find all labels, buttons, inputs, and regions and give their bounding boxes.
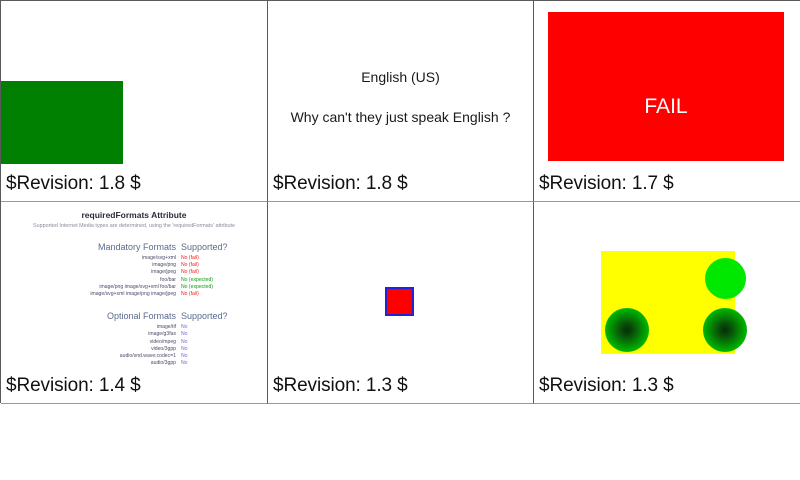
- table-row: image/svg+xml image/png image/jpeg No (f…: [1, 291, 267, 298]
- green-dot-bottom-left: [605, 308, 649, 352]
- format-cell: image/g3fax: [1, 331, 181, 338]
- supported-cell: No (fail): [181, 269, 267, 276]
- green-rectangle-shape: [1, 81, 123, 164]
- required-formats-report: requiredFormats Attribute Supported Inte…: [1, 202, 267, 367]
- table-row: image/jpeg No (fail): [1, 269, 267, 276]
- supported-cell: No (expected): [181, 284, 267, 291]
- format-cell: image/png: [1, 262, 181, 269]
- format-cell: image/png image/svg+xml foo/bar: [1, 284, 181, 291]
- supported-cell: No (expected): [181, 277, 267, 284]
- test-cell-radial-dots: $Revision: 1.3 $: [534, 202, 800, 404]
- red-square-shape: [385, 287, 414, 316]
- optional-supported-header: Supported?: [181, 306, 267, 324]
- revision-label: $Revision: 1.4 $: [6, 375, 141, 397]
- test-cell-small-square: $Revision: 1.3 $: [268, 202, 534, 404]
- language-title: English (US): [268, 69, 533, 85]
- format-cell: image/svg+xml: [1, 255, 181, 262]
- table-row: image/g3fax No: [1, 331, 267, 338]
- language-question: Why can't they just speak English ?: [268, 109, 533, 125]
- revision-label: $Revision: 1.3 $: [273, 375, 408, 397]
- table-header-row: Mandatory Formats Supported?: [1, 237, 267, 255]
- revision-label: $Revision: 1.8 $: [273, 173, 408, 195]
- supported-cell: No: [181, 339, 267, 346]
- table-row: video/mpeg No: [1, 339, 267, 346]
- supported-cell: No: [181, 346, 267, 353]
- supported-cell: No: [181, 360, 267, 367]
- format-cell: audio/3gpp: [1, 360, 181, 367]
- table-row: image/png image/svg+xml foo/bar No (expe…: [1, 284, 267, 291]
- table-header-row: Optional Formats Supported?: [1, 306, 267, 324]
- format-cell: image/svg+xml image/png image/jpeg: [1, 291, 181, 298]
- mandatory-supported-header: Supported?: [181, 237, 267, 255]
- format-cell: video/mpeg: [1, 339, 181, 346]
- test-result-grid: $Revision: 1.8 $ English (US) Why can't …: [0, 0, 800, 403]
- format-cell: video/3gpp: [1, 346, 181, 353]
- table-row: audio/snd.wave;codec=1 No: [1, 353, 267, 360]
- supported-cell: No (fail): [181, 255, 267, 262]
- mandatory-formats-header: Mandatory Formats: [1, 237, 181, 255]
- mandatory-formats-table: Mandatory Formats Supported? image/svg+x…: [1, 237, 267, 298]
- revision-label: $Revision: 1.8 $: [6, 173, 141, 195]
- revision-label: $Revision: 1.7 $: [539, 173, 674, 195]
- optional-formats-table: Optional Formats Supported? image/tif No…: [1, 306, 267, 367]
- supported-cell: No: [181, 353, 267, 360]
- format-cell: image/jpeg: [1, 269, 181, 276]
- format-cell: image/tif: [1, 324, 181, 331]
- table-row: image/png No (fail): [1, 262, 267, 269]
- supported-cell: No (fail): [181, 262, 267, 269]
- table-row: audio/3gpp No: [1, 360, 267, 367]
- green-dot-top-right: [705, 258, 746, 299]
- format-cell: foo/bar: [1, 277, 181, 284]
- table-row: image/svg+xml No (fail): [1, 255, 267, 262]
- test-cell-green-rectangle: $Revision: 1.8 $: [1, 1, 268, 202]
- test-cell-required-formats: requiredFormats Attribute Supported Inte…: [1, 202, 268, 404]
- test-cell-fail-block: FAIL $Revision: 1.7 $: [534, 1, 800, 202]
- supported-cell: No: [181, 331, 267, 338]
- table-row: video/3gpp No: [1, 346, 267, 353]
- table-row: foo/bar No (expected): [1, 277, 267, 284]
- report-title: requiredFormats Attribute: [1, 210, 267, 220]
- fail-rectangle-shape: FAIL: [548, 12, 784, 161]
- supported-cell: No: [181, 324, 267, 331]
- supported-cell: No (fail): [181, 291, 267, 298]
- revision-label: $Revision: 1.3 $: [539, 375, 674, 397]
- test-cell-language-switch: English (US) Why can't they just speak E…: [268, 1, 534, 202]
- green-dot-bottom-right: [703, 308, 747, 352]
- report-subtitle: Supported Internet Media types are deter…: [1, 223, 267, 229]
- table-row: image/tif No: [1, 324, 267, 331]
- yellow-rectangle-shape: [601, 251, 735, 354]
- fail-label: FAIL: [548, 95, 784, 119]
- format-cell: audio/snd.wave;codec=1: [1, 353, 181, 360]
- optional-formats-header: Optional Formats: [1, 306, 181, 324]
